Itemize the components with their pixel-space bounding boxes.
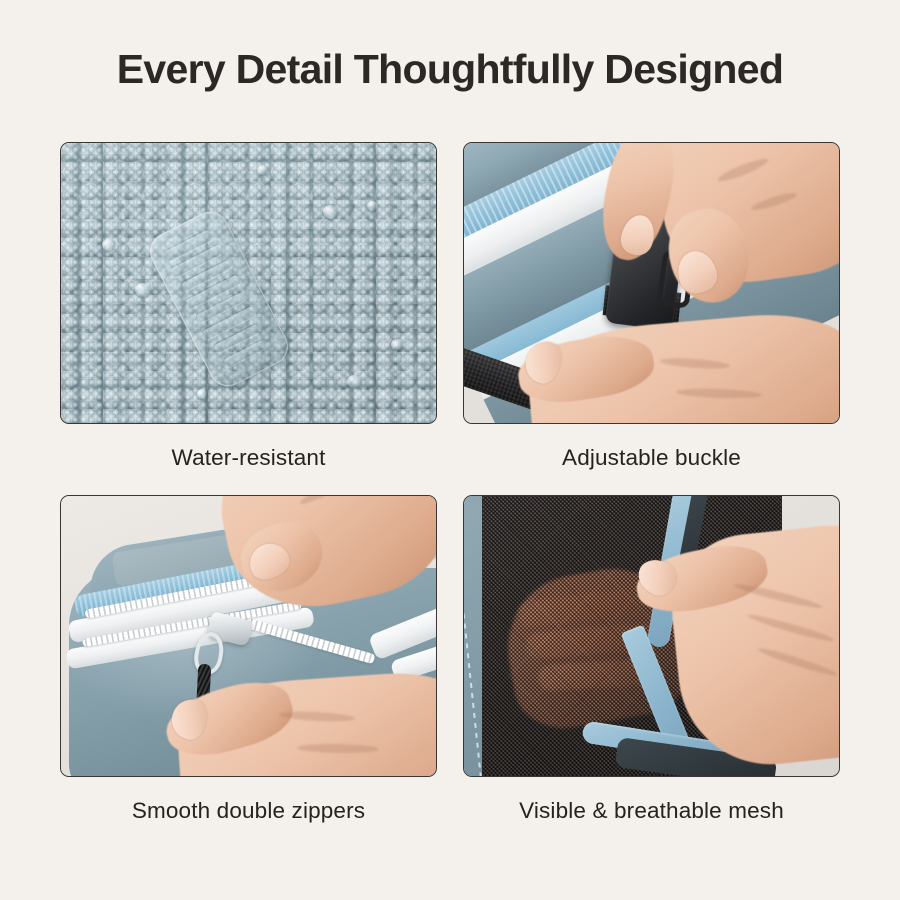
photo-adjustable-buckle — [464, 143, 839, 423]
water-bead — [367, 201, 378, 211]
feature-caption-visible-breathable-mesh: Visible & breathable mesh — [463, 797, 840, 824]
feature-card-adjustable-buckle[interactable]: Adjustable buckle — [463, 142, 840, 471]
feature-card-visible-breathable-mesh[interactable]: Visible & breathable mesh — [463, 495, 840, 824]
embossed-mark — [196, 291, 247, 323]
embossed-mark — [214, 324, 261, 354]
photo-double-zippers — [61, 496, 436, 776]
feature-card-smooth-double-zippers[interactable]: Smooth double zippers — [60, 495, 437, 824]
photo-water-resistant-fabric — [61, 143, 436, 423]
embossed-mark — [181, 260, 231, 292]
embossed-mark — [185, 274, 241, 309]
water-bead — [257, 165, 268, 175]
page-title: Every Detail Thoughtfully Designed — [0, 47, 900, 93]
embossed-mark — [170, 244, 224, 278]
feature-grid: Water-resistant — [60, 142, 840, 824]
photo-breathable-mesh — [464, 496, 839, 776]
water-bead — [391, 339, 403, 350]
feature-card-water-resistant[interactable]: Water-resistant — [60, 142, 437, 471]
feature-photo-adjustable-buckle[interactable] — [463, 142, 840, 424]
water-bead — [135, 283, 151, 297]
water-bead — [197, 389, 207, 399]
feature-photo-smooth-double-zippers[interactable] — [60, 495, 437, 777]
feature-caption-smooth-double-zippers: Smooth double zippers — [60, 797, 437, 824]
embossed-mark — [164, 229, 214, 262]
feature-photo-visible-breathable-mesh[interactable] — [463, 495, 840, 777]
water-bead — [323, 205, 338, 219]
water-bead — [102, 239, 115, 251]
feature-photo-water-resistant[interactable] — [60, 142, 437, 424]
water-bead — [347, 375, 361, 388]
feature-caption-water-resistant: Water-resistant — [60, 444, 437, 471]
feature-caption-adjustable-buckle: Adjustable buckle — [463, 444, 840, 471]
embossed-mark — [202, 306, 256, 340]
feature-grid-page: Every Detail Thoughtfully Designed — [0, 0, 900, 900]
embossed-mark — [223, 340, 266, 368]
